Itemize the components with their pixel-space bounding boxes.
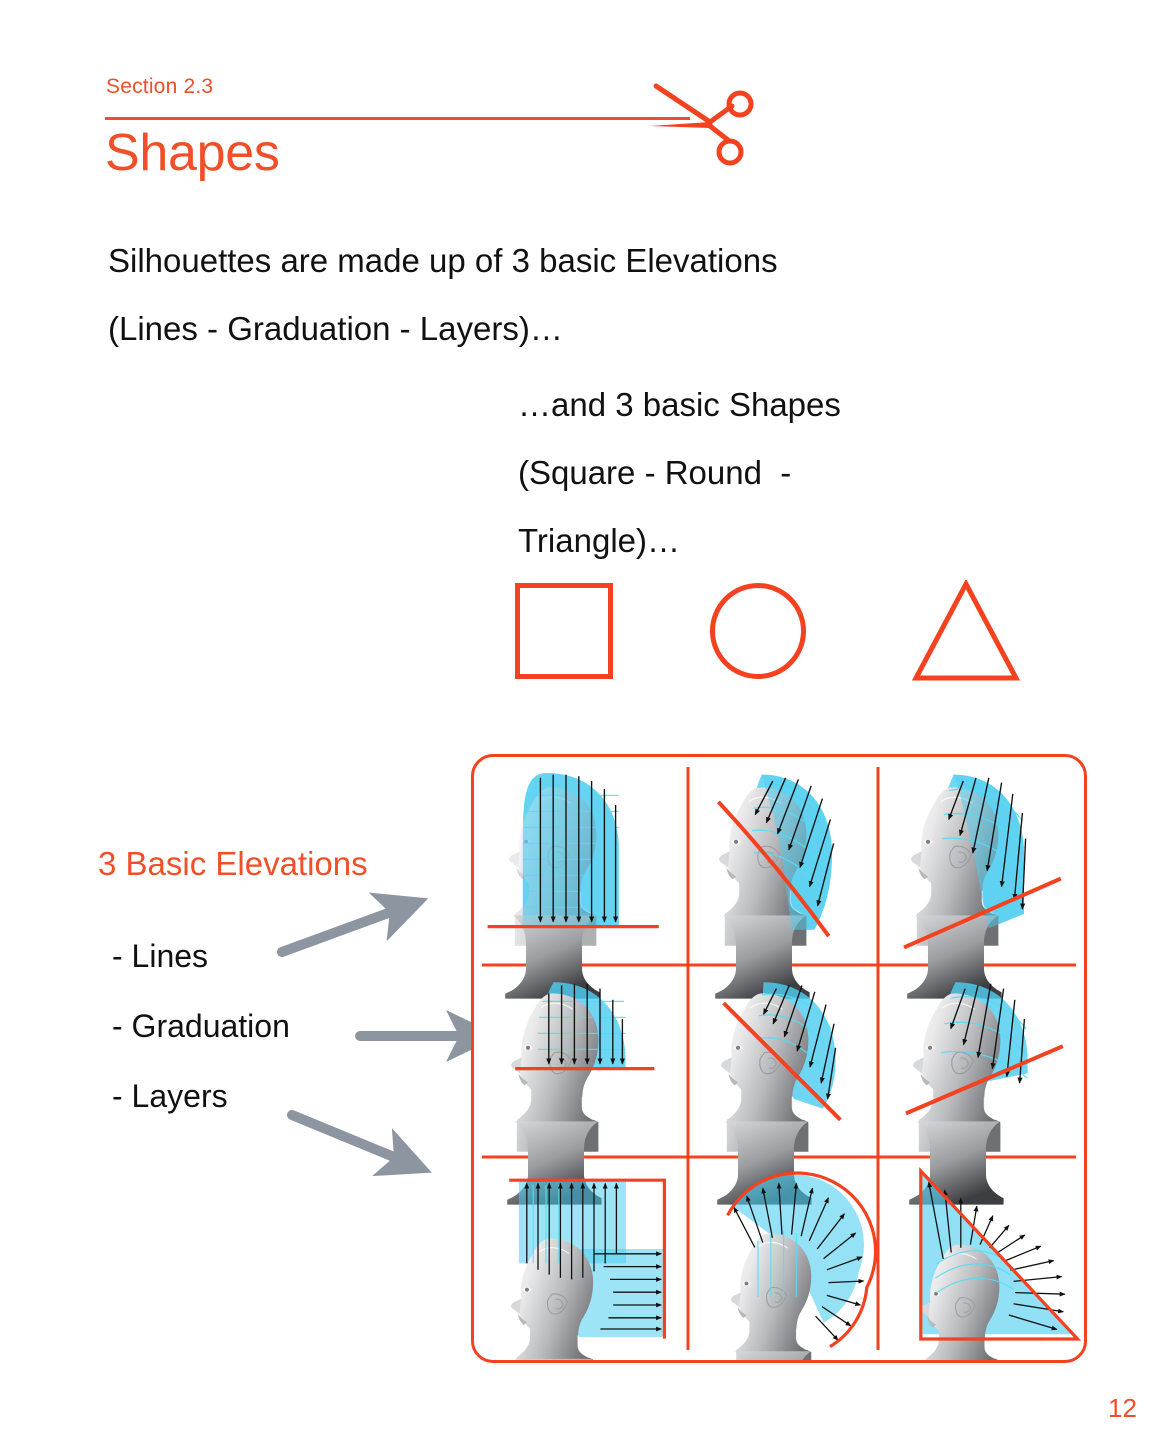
elevation-arrows: [250, 890, 500, 1190]
section-label: Section 2.3: [106, 75, 213, 99]
page-title: Shapes: [105, 126, 280, 181]
page-number: 12: [1108, 1393, 1137, 1424]
arrow-down-right: [292, 1115, 406, 1162]
elevations-heading: 3 Basic Elevations: [98, 845, 368, 883]
cell-graduation-short: [717, 982, 840, 1204]
square-shape-icon: [515, 583, 613, 679]
cell-lines-short: [507, 982, 654, 1204]
shapes-line-2: (Square - Round -: [518, 456, 1138, 489]
intro-paragraph: Silhouettes are made up of 3 basic Eleva…: [108, 244, 1008, 380]
silhouette-grid-panel: [471, 754, 1087, 1363]
silhouette-grid: [474, 757, 1084, 1360]
circle-shape-icon: [710, 583, 806, 679]
scissors-icon: [648, 78, 758, 178]
cell-square-projection: [507, 1180, 664, 1360]
header-divider-rule: [105, 117, 690, 120]
shapes-paragraph: …and 3 basic Shapes (Square - Round - Tr…: [518, 388, 1138, 592]
slide: Section 2.3 Shapes Silhouettes are made …: [0, 0, 1152, 1440]
cell-layers-short: [906, 982, 1063, 1204]
intro-line-1: Silhouettes are made up of 3 basic Eleva…: [108, 244, 1008, 277]
shapes-line-3: Triangle)…: [518, 524, 1138, 557]
triangle-shape-icon: [912, 580, 1020, 682]
arrow-up-right: [282, 908, 402, 952]
basic-shapes-row: [0, 580, 1152, 690]
shapes-line-1: …and 3 basic Shapes: [518, 388, 1138, 421]
cell-round-projection: [727, 1173, 875, 1360]
intro-line-2: (Lines - Graduation - Layers)…: [108, 312, 1008, 345]
